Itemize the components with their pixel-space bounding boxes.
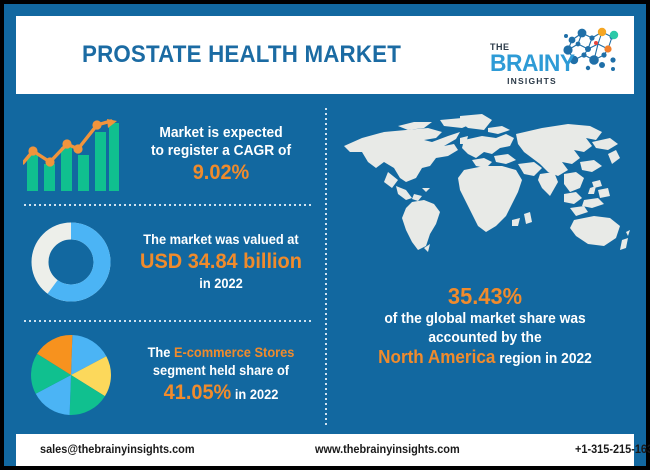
stat-segment-year: in 2022 xyxy=(231,387,278,402)
brainy-insights-logo: THE BRAINY INSIGHTS xyxy=(484,24,620,88)
region-name: North America xyxy=(378,347,495,367)
region-line2: accounted by the xyxy=(428,330,541,346)
stat-cagr: Market is expected to register a CAGR of… xyxy=(16,110,316,200)
left-stats-column: Market is expected to register a CAGR of… xyxy=(16,104,316,426)
stat-cagr-line1: Market is expected xyxy=(159,125,282,141)
infographic-poster: PROSTATE HEALTH MARKET xyxy=(4,4,646,466)
logo-wordmark: THE BRAINY INSIGHTS xyxy=(490,42,574,86)
region-share-text: 35.43% of the global market share was ac… xyxy=(343,282,626,369)
horizontal-divider-1 xyxy=(24,204,314,206)
stat-cagr-value: 9.02% xyxy=(131,160,312,186)
footer-bar: sales@thebrainyinsights.com www.thebrain… xyxy=(16,434,634,466)
bar-chart-growth-icon xyxy=(16,119,126,191)
vertical-divider xyxy=(325,108,327,428)
pie-chart-icon xyxy=(16,332,126,418)
donut-chart-icon xyxy=(16,222,126,302)
footer-email[interactable]: sales@thebrainyinsights.com xyxy=(40,444,195,456)
stat-segment-line2: segment held share of xyxy=(153,363,289,378)
footer-website[interactable]: www.thebrainyinsights.com xyxy=(315,444,460,456)
stat-value-amount: USD 34.84 billion xyxy=(131,249,312,275)
region-percent: 35.43% xyxy=(343,282,626,310)
footer-phone[interactable]: +1-315-215-1633 xyxy=(575,444,650,456)
stat-segment-prefix: The xyxy=(148,345,174,360)
stat-value-year: in 2022 xyxy=(199,276,242,291)
region-line1: of the global market share was xyxy=(384,311,585,327)
page-title: PROSTATE HEALTH MARKET xyxy=(82,41,401,69)
right-region-column: 35.43% of the global market share was ac… xyxy=(336,104,634,426)
horizontal-divider-2 xyxy=(24,320,314,322)
world-map-icon xyxy=(336,108,634,256)
stat-market-value: The market was valued at USD 34.84 billi… xyxy=(16,216,316,308)
stat-cagr-line2: to register a CAGR of xyxy=(151,143,291,159)
logo-brainy-text: BRAINY xyxy=(490,52,570,76)
stat-segment-highlight: E-commerce Stores xyxy=(174,345,294,360)
region-tail: region in 2022 xyxy=(495,351,591,367)
stat-segment-text: The E-commerce Stores segment held share… xyxy=(131,344,312,406)
header-bar: PROSTATE HEALTH MARKET xyxy=(16,16,634,94)
logo-insights-text: INSIGHTS xyxy=(490,76,574,86)
stat-segment-value: 41.05% xyxy=(164,381,232,404)
stat-segment-share: The E-commerce Stores segment held share… xyxy=(16,328,316,422)
stat-market-value-text: The market was valued at USD 34.84 billi… xyxy=(131,231,312,293)
stat-value-line1: The market was valued at xyxy=(143,232,298,247)
stat-cagr-text: Market is expected to register a CAGR of… xyxy=(131,124,312,186)
